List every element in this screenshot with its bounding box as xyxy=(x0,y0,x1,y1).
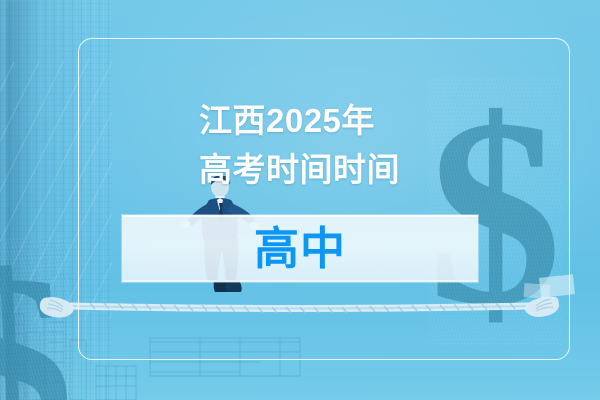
gripping-hand-left-icon xyxy=(40,297,74,317)
paper-scrap-b xyxy=(524,283,551,299)
title-block: 江西2025年 高考时间时间 xyxy=(199,96,539,194)
banner-top-edge xyxy=(122,215,478,217)
banner-label: 高中 xyxy=(254,226,346,271)
title-line-1: 江西2025年 xyxy=(199,96,539,145)
banner-bottom-edge xyxy=(122,280,478,282)
promo-image-canvas: $ $ xyxy=(0,0,600,400)
title-line-2: 高考时间时间 xyxy=(199,145,539,194)
category-banner: 高中 xyxy=(122,215,478,282)
tightrope-illustration xyxy=(0,294,600,320)
gripping-hand-right-icon xyxy=(525,297,559,317)
